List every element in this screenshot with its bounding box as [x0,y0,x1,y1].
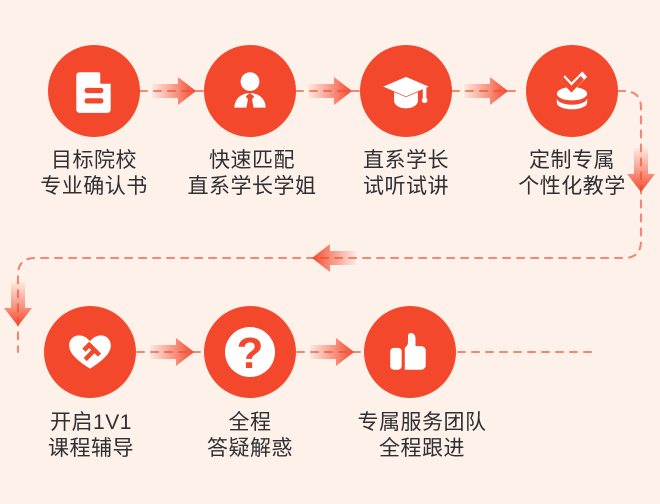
step-2-label-line2: 直系学长学姐 [160,174,344,200]
step-7-label: 专属服务团队 全程跟进 [312,410,532,463]
step-6-circle[interactable]: ? [204,306,296,398]
step-3-label-line1: 直系学长 [322,148,490,174]
step-5-label-line2: 课程辅导 [0,436,182,462]
step-4-label-line1: 定制专属 [484,148,660,174]
businessman-icon [225,66,275,116]
step-3-label: 直系学长 试听试讲 [322,148,490,201]
step-7-label-line2: 全程跟进 [312,436,532,462]
svg-text:?: ? [237,329,264,378]
step-5-label: 开启1V1 课程辅导 [0,410,182,463]
step-1-circle[interactable] [48,45,140,137]
question-mark-icon: ? [204,306,296,398]
step-node-layer: 目标院校 专业确认书 快速匹配 直系学长学姐 [0,0,660,504]
step-5-label-line1: 开启1V1 [0,410,182,436]
step-4-label: 定制专属 个性化教学 [484,148,660,201]
step-2-label: 快速匹配 直系学长学姐 [160,148,344,201]
check-stack-icon [546,65,598,117]
thumbs-up-icon [385,327,435,377]
step-7-circle[interactable] [364,306,456,398]
step-2-label-line1: 快速匹配 [160,148,344,174]
graduation-cap-icon [380,65,432,117]
step-4-label-line2: 个性化教学 [484,174,660,200]
step-5-circle[interactable] [44,306,136,398]
step-3-circle[interactable] [360,45,452,137]
step-2-circle[interactable] [204,45,296,137]
step-4-circle[interactable] [526,45,618,137]
heart-handshake-icon [65,327,115,377]
step-3-label-line2: 试听试讲 [322,174,490,200]
infographic-flow-diagram: 目标院校 专业确认书 快速匹配 直系学长学姐 [0,0,660,504]
step-7-label-line1: 专属服务团队 [312,410,532,436]
document-icon [69,66,119,116]
